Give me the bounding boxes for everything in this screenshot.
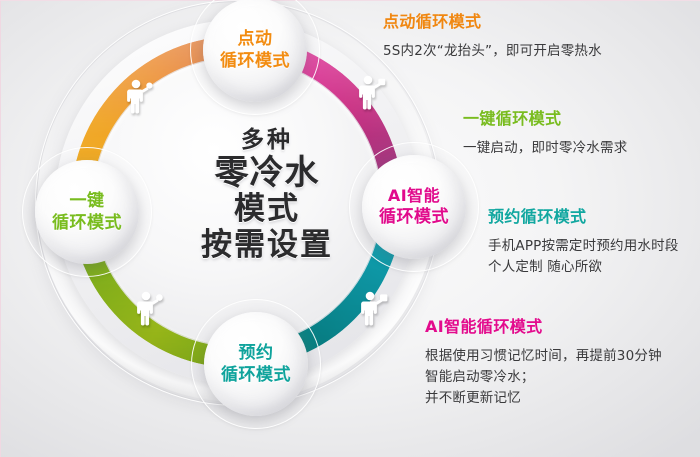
bubble-yuyue[interactable]: 预约 循环模式	[204, 312, 308, 416]
bubble-label-line1: 预约	[239, 343, 274, 363]
center-line-3: 模式	[177, 192, 357, 228]
info-body: 手机APP按需定时预约用水时段个人定制 随心所欲	[488, 236, 679, 278]
bubble-label-line1: 点动	[238, 29, 273, 49]
bubble-label-line2: 循环模式	[220, 51, 290, 71]
person-icon	[359, 290, 389, 326]
center-line-2: 零冷水	[177, 154, 357, 192]
person-icon	[135, 290, 165, 326]
center-headline: 多种 零冷水 模式 按需设置	[177, 120, 357, 263]
info-heading: AI智能循环模式	[425, 313, 662, 337]
bubble-yijian[interactable]: 一键 循环模式	[35, 160, 139, 264]
center-line-4: 按需设置	[177, 228, 357, 264]
info-heading: 点动循环模式	[383, 8, 602, 32]
info-body: 根据使用习惯记忆时间，再提前30分钟智能启动零冷水；并不断更新记忆	[425, 346, 662, 409]
bubble-label-line1: 一键	[70, 191, 105, 211]
info-body: 一键启动，即时零冷水需求	[463, 138, 627, 159]
info-block-dianodng: 点动循环模式 5S内2次“龙抬头”，即可开启零热水	[383, 8, 602, 62]
bubble-label-line2: 循环模式	[379, 207, 449, 227]
person-icon	[125, 78, 155, 114]
infographic-stage: 多种 零冷水 模式 按需设置 点动 循环模式 一键 循环模式 AI智能 循环模式…	[0, 0, 700, 457]
bubble-ai[interactable]: AI智能 循环模式	[362, 155, 466, 259]
bubble-dianodng[interactable]: 点动 循环模式	[203, 0, 307, 102]
bubble-label-line1: AI智能	[388, 187, 440, 206]
info-heading: 一键循环模式	[463, 105, 627, 129]
info-block-ai: AI智能循环模式 根据使用习惯记忆时间，再提前30分钟智能启动零冷水；并不断更新…	[425, 313, 662, 409]
info-block-yijian: 一键循环模式 一键启动，即时零冷水需求	[463, 105, 627, 159]
info-body: 5S内2次“龙抬头”，即可开启零热水	[383, 41, 602, 62]
center-line-1: 多种	[177, 120, 357, 154]
person-icon	[357, 74, 387, 110]
bubble-label-line2: 循环模式	[221, 365, 291, 385]
info-block-yuyue: 预约循环模式 手机APP按需定时预约用水时段个人定制 随心所欲	[488, 203, 679, 278]
bubble-label-line2: 循环模式	[52, 213, 122, 233]
info-heading: 预约循环模式	[488, 203, 679, 227]
